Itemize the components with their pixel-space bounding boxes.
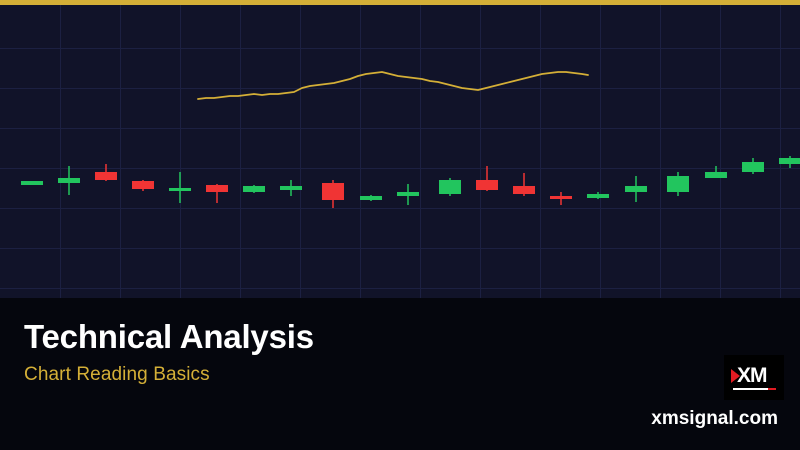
candlestick[interactable]: [550, 192, 572, 205]
candle-body: [21, 181, 43, 185]
candlestick[interactable]: [476, 166, 498, 191]
screenshot-root: Technical Analysis Chart Reading Basics …: [0, 0, 800, 450]
candle-body: [667, 176, 689, 192]
candlestick[interactable]: [243, 185, 265, 193]
candle-body: [360, 196, 382, 200]
candle-body: [476, 180, 498, 190]
candlestick[interactable]: [280, 180, 302, 196]
candlestick[interactable]: [513, 173, 535, 196]
page-subtitle: Chart Reading Basics: [24, 364, 210, 386]
trend-line: [198, 72, 588, 99]
xm-logo-inner: XM: [724, 355, 784, 400]
candlestick[interactable]: [169, 172, 191, 203]
xm-logo-underline-accent: [768, 388, 776, 390]
candlestick[interactable]: [322, 180, 344, 208]
candlestick[interactable]: [360, 195, 382, 201]
candlestick[interactable]: [587, 192, 609, 199]
candle-body: [513, 186, 535, 194]
candlestick[interactable]: [705, 166, 727, 178]
candlestick[interactable]: [779, 156, 800, 168]
candle-body: [322, 183, 344, 200]
footer-panel: Technical Analysis Chart Reading Basics …: [0, 298, 800, 450]
chart-canvas: [0, 5, 800, 298]
candle-wick: [179, 172, 181, 203]
candle-body: [705, 172, 727, 178]
candlestick[interactable]: [397, 184, 419, 205]
candle-body: [169, 188, 191, 191]
candlestick[interactable]: [21, 181, 43, 185]
candlestick[interactable]: [95, 164, 117, 181]
candlestick[interactable]: [742, 158, 764, 174]
candlestick[interactable]: [625, 176, 647, 202]
candle-body: [587, 194, 609, 198]
candlestick[interactable]: [439, 178, 461, 196]
candlestick[interactable]: [58, 166, 80, 195]
candle-body: [439, 180, 461, 194]
page-title: Technical Analysis: [24, 318, 314, 356]
candle-body: [397, 192, 419, 196]
candle-body: [550, 196, 572, 199]
candle-body: [243, 186, 265, 192]
xm-logo[interactable]: XM: [724, 355, 784, 400]
candlestick[interactable]: [206, 184, 228, 203]
candle-body: [206, 185, 228, 192]
candle-body: [625, 186, 647, 192]
candle-body: [779, 158, 800, 164]
candle-body: [95, 172, 117, 180]
candlestick-chart-panel[interactable]: [0, 5, 800, 298]
candle-body: [280, 186, 302, 190]
candle-body: [58, 178, 80, 183]
candlestick[interactable]: [667, 172, 689, 196]
xm-logo-text: XM: [737, 365, 767, 386]
website-url: xmsignal.com: [651, 408, 778, 430]
candle-body: [742, 162, 764, 172]
candle-body: [132, 181, 154, 189]
candlestick[interactable]: [132, 180, 154, 191]
